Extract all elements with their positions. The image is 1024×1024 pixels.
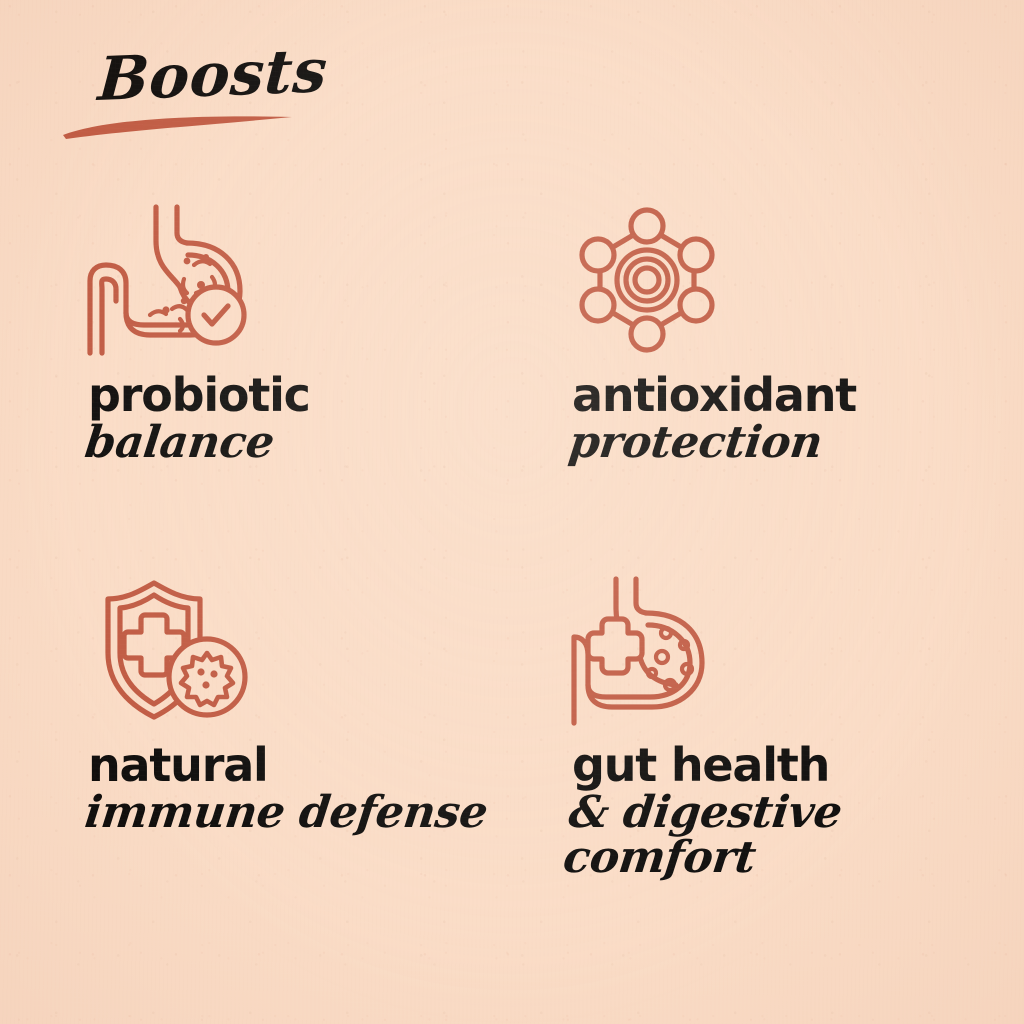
boost-card-label: gut health & digestive comfort bbox=[572, 743, 1024, 881]
stomach-cross-digestive-icon bbox=[572, 575, 742, 725]
boost-card-antioxidant: antioxidant protection bbox=[562, 205, 1024, 465]
boost-card-label: natural immune defense bbox=[88, 743, 548, 835]
boost-card-label: antioxidant protection bbox=[572, 373, 1024, 465]
brush-underline-icon bbox=[60, 108, 300, 142]
page-title: Boosts bbox=[96, 37, 329, 115]
shield-cross-germ-icon bbox=[88, 575, 258, 725]
boost-primary-label: antioxidant bbox=[572, 373, 1024, 418]
boost-script-line: comfort bbox=[561, 835, 1024, 880]
stomach-probiotics-check-icon bbox=[88, 205, 258, 355]
boosts-infographic: Boosts bbox=[0, 0, 1024, 1024]
boost-primary-label: probiotic bbox=[88, 373, 548, 418]
boost-script-label: balance bbox=[82, 420, 548, 465]
molecule-antioxidant-icon bbox=[572, 205, 742, 355]
boost-script-label: immune defense bbox=[82, 790, 548, 835]
header: Boosts bbox=[60, 46, 480, 158]
boost-card-immune: natural immune defense bbox=[78, 575, 548, 835]
boost-script-label: protection bbox=[566, 420, 1024, 465]
boost-card-label: probiotic balance bbox=[88, 373, 548, 465]
boost-primary-label: natural bbox=[88, 743, 548, 788]
boost-script-line: balance bbox=[82, 420, 548, 465]
boost-card-gut-health: gut health & digestive comfort bbox=[562, 575, 1024, 881]
boost-script-line: protection bbox=[566, 420, 1024, 465]
boost-card-probiotic: probiotic balance bbox=[78, 205, 548, 465]
boost-primary-label: gut health bbox=[572, 743, 1024, 788]
boost-script-label: & digestive comfort bbox=[561, 790, 1024, 881]
boost-script-line: & digestive bbox=[566, 790, 1024, 835]
boost-script-line: immune defense bbox=[82, 790, 548, 835]
